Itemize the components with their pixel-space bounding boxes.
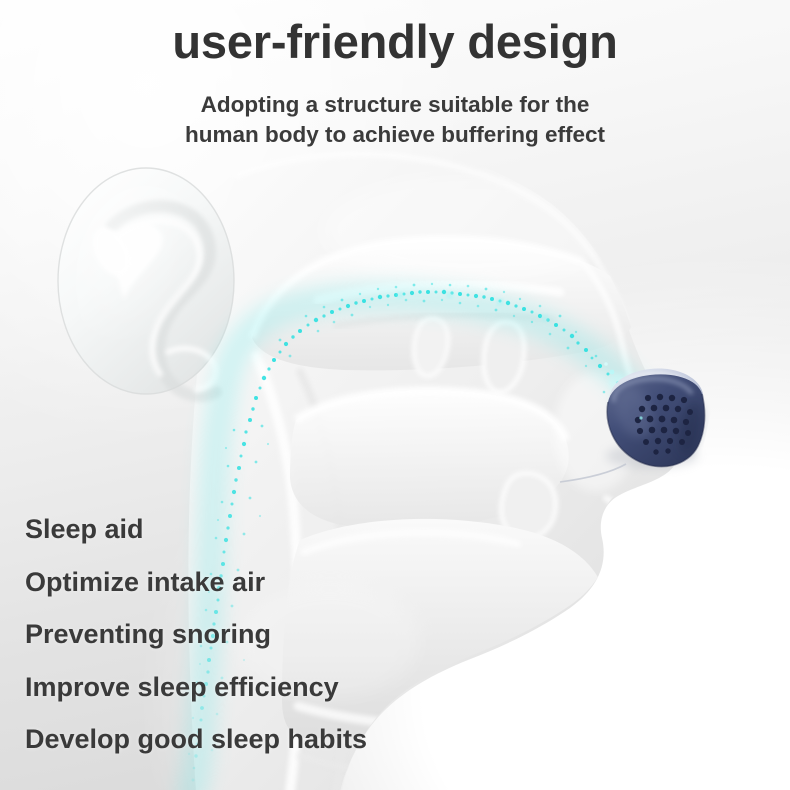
ear-illustration bbox=[58, 168, 234, 396]
page-title: user-friendly design bbox=[0, 17, 790, 67]
benefit-item-5: Develop good sleep habits bbox=[25, 726, 367, 753]
benefits-list: Sleep aid Optimize intake air Preventing… bbox=[25, 516, 367, 753]
benefit-item-3: Preventing snoring bbox=[25, 621, 367, 648]
infographic-canvas: user-friendly design Adopting a structur… bbox=[0, 0, 790, 790]
benefit-item-2: Optimize intake air bbox=[25, 569, 367, 596]
subtitle-line-2: human body to achieve buffering effect bbox=[0, 120, 790, 150]
nasal-dilator-device bbox=[606, 369, 705, 468]
subtitle-line-1: Adopting a structure suitable for the bbox=[0, 90, 790, 120]
benefit-item-1: Sleep aid bbox=[25, 516, 367, 543]
page-subtitle: Adopting a structure suitable for the hu… bbox=[0, 90, 790, 149]
benefit-item-4: Improve sleep efficiency bbox=[25, 674, 367, 701]
device-mesh-glint bbox=[639, 416, 642, 419]
